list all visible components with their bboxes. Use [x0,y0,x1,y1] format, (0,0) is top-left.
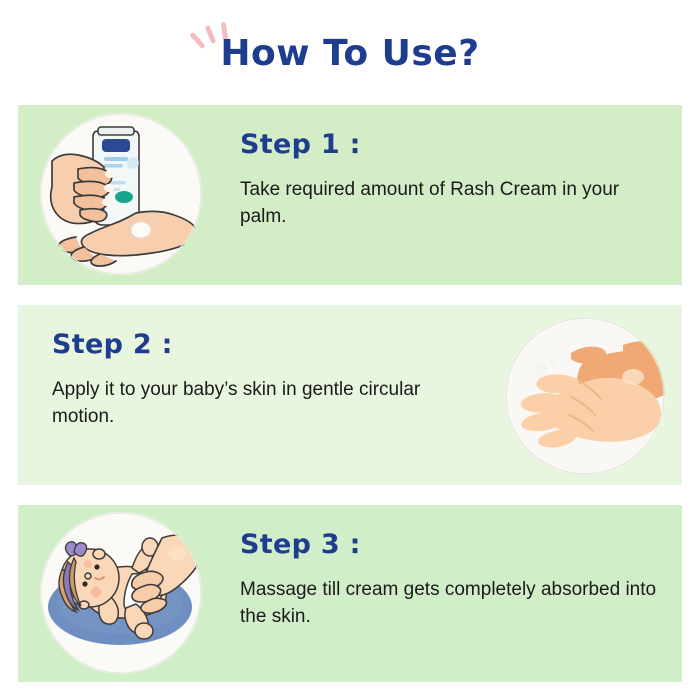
step-2-illustration [505,317,665,475]
step-panel-3: Step 3 : Massage till cream gets complet… [18,505,682,682]
step-2-heading: Step 2 : [52,331,482,359]
step-3-body: Massage till cream gets completely absor… [240,577,670,629]
step-1-heading: Step 1 : [240,131,670,159]
step-3-illustration [40,512,202,674]
step-3-heading: Step 3 : [240,531,670,559]
hand-squeezing-cream-tube-icon [40,113,202,275]
step-2-body: Apply it to your baby’s skin in gentle c… [52,377,482,429]
baby-massage-icon [40,512,202,674]
step-panel-2: Step 2 : Apply it to your baby’s skin in… [18,305,682,485]
page-title: How To Use? [0,33,700,74]
step-3-text-block: Step 3 : Massage till cream gets complet… [240,531,670,630]
hands-rubbing-cream-icon [505,317,665,475]
page-header: How To Use? [0,0,700,100]
step-panel-1: Step 1 : Take required amount of Rash Cr… [18,105,682,285]
step-2-text-block: Step 2 : Apply it to your baby’s skin in… [52,331,482,430]
step-1-body: Take required amount of Rash Cream in yo… [240,177,670,229]
step-1-illustration [40,113,202,275]
step-1-text-block: Step 1 : Take required amount of Rash Cr… [240,131,670,230]
